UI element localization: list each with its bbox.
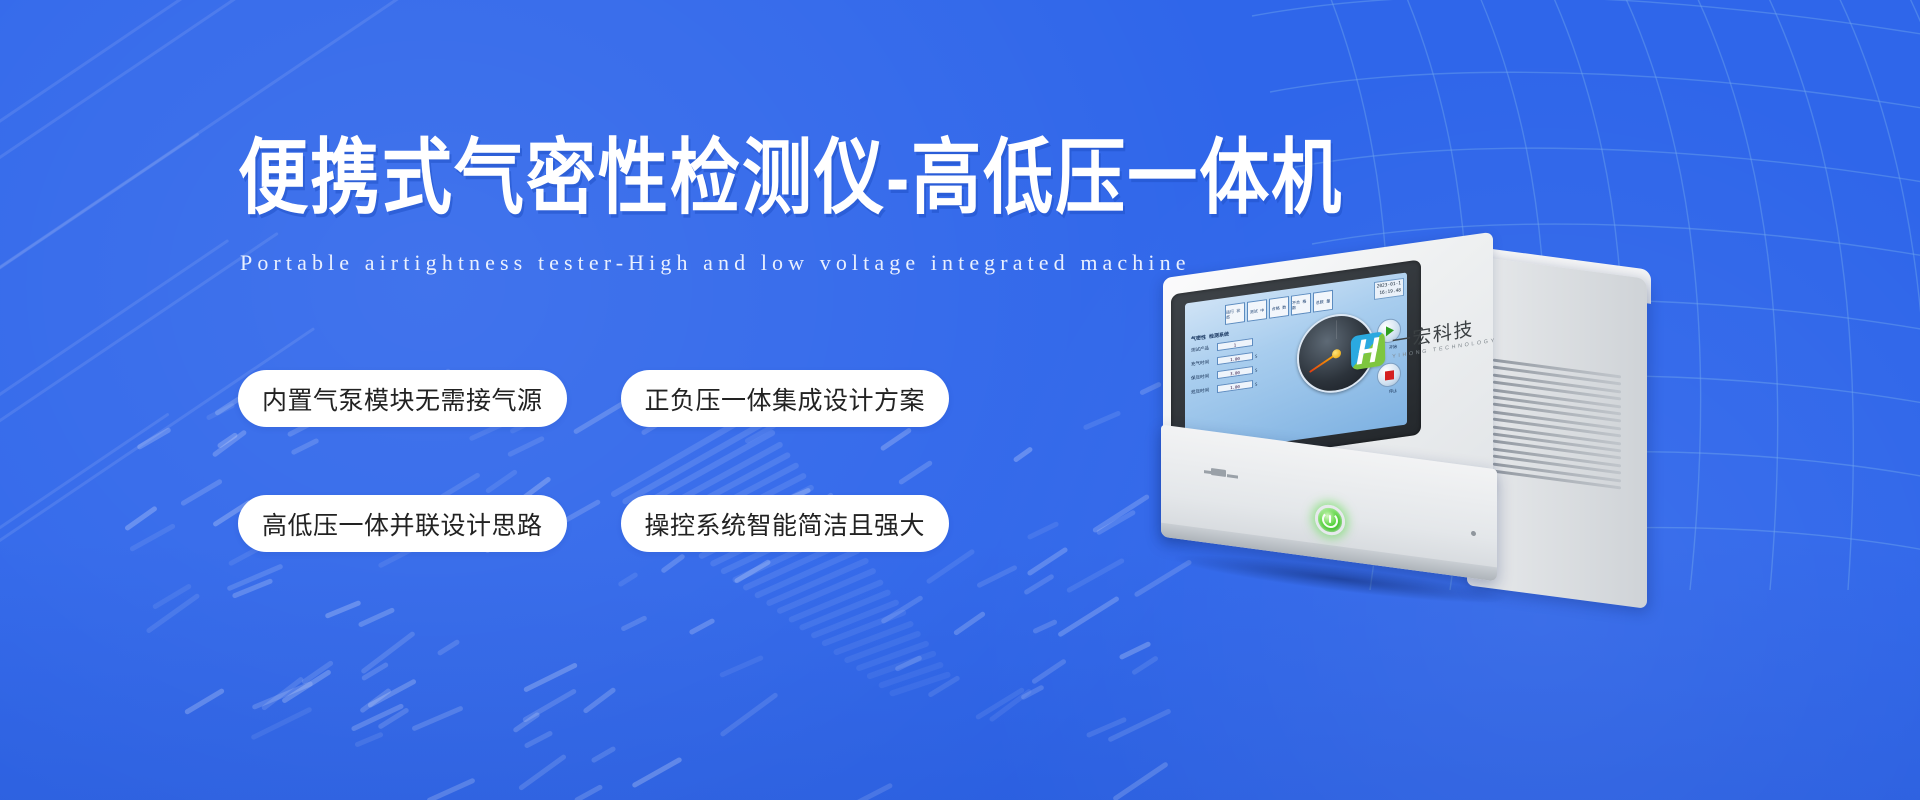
- yihong-logo-icon: [1351, 331, 1386, 370]
- hero-banner: 便携式气密性检测仪-高低压一体机 Portable airtightness t…: [0, 0, 1920, 800]
- hmi-status-cell: 合格 数: [1269, 296, 1289, 319]
- feature-pill[interactable]: 高低压一体并联设计思路: [238, 495, 567, 552]
- feature-pill-row: 高低压一体并联设计思路 操控系统智能简洁且强大: [238, 495, 938, 552]
- hmi-parameter-label: 保压时间: [1191, 372, 1215, 381]
- hmi-stop-button-label: 停止: [1389, 388, 1397, 395]
- hmi-parameter-input[interactable]: 1.00: [1217, 352, 1253, 365]
- screw-icon: [1471, 531, 1476, 537]
- hmi-status-cell: 总数 量: [1313, 290, 1333, 313]
- feature-pill[interactable]: 内置气泵模块无需接气源: [238, 370, 567, 427]
- power-icon-bar: [1329, 515, 1331, 523]
- hmi-status-cell-label: 运行 状态: [1226, 307, 1244, 320]
- hmi-parameter-unit: S: [1255, 367, 1257, 372]
- hmi-parameter-unit: S: [1255, 353, 1257, 358]
- stop-icon: [1385, 370, 1394, 380]
- feature-pill[interactable]: 操控系统智能简洁且强大: [621, 495, 950, 552]
- hmi-status-cell-label: 合格 数: [1272, 304, 1286, 311]
- hmi-parameter-input[interactable]: 1: [1217, 338, 1253, 351]
- page-title: 便携式气密性检测仪-高低压一体机: [238, 134, 1348, 221]
- hmi-parameter-label: 泄压时间: [1191, 386, 1215, 395]
- feature-pill-row: 内置气泵模块无需接气源 正负压一体集成设计方案: [238, 370, 938, 427]
- hmi-parameter-label: 充气时间: [1191, 358, 1215, 367]
- hmi-parameter-input[interactable]: 1.00: [1217, 380, 1253, 393]
- hmi-status-cell: 测试 中: [1247, 299, 1267, 322]
- airtightness-tester-device: 运行 状态 测试 中 合格 数 不合 格数 总数 量: [1155, 255, 1775, 675]
- feature-pill[interactable]: 正负压一体集成设计方案: [621, 370, 950, 427]
- hmi-parameter-unit: S: [1255, 381, 1257, 386]
- hmi-status-cell: 不合 格数: [1291, 293, 1311, 316]
- hmi-parameter-input[interactable]: 3.00: [1217, 366, 1253, 379]
- feature-pill-list: 内置气泵模块无需接气源 正负压一体集成设计方案 高低压一体并联设计思路 操控系统…: [238, 370, 938, 620]
- hmi-status-cell-label: 测试 中: [1250, 307, 1264, 314]
- hmi-parameter-list: 测试产品 1 充气时间 1.00 S 保压时间 3.00 S: [1191, 333, 1287, 402]
- hmi-status-cell-label: 总数 量: [1316, 298, 1330, 305]
- product-image: 运行 状态 测试 中 合格 数 不合 格数 总数 量: [1155, 255, 1775, 675]
- hmi-status-cell-label: 不合 格数: [1292, 298, 1310, 311]
- hmi-title: 气密性 检测系统: [1191, 330, 1229, 342]
- hmi-status-cell: 运行 状态: [1225, 302, 1245, 325]
- device-vent-grille: [1493, 359, 1621, 494]
- gauge-hub: [1332, 348, 1341, 358]
- banner-content: 便携式气密性检测仪-高低压一体机 Portable airtightness t…: [0, 0, 1100, 800]
- hmi-parameter-label: 测试产品: [1191, 344, 1215, 353]
